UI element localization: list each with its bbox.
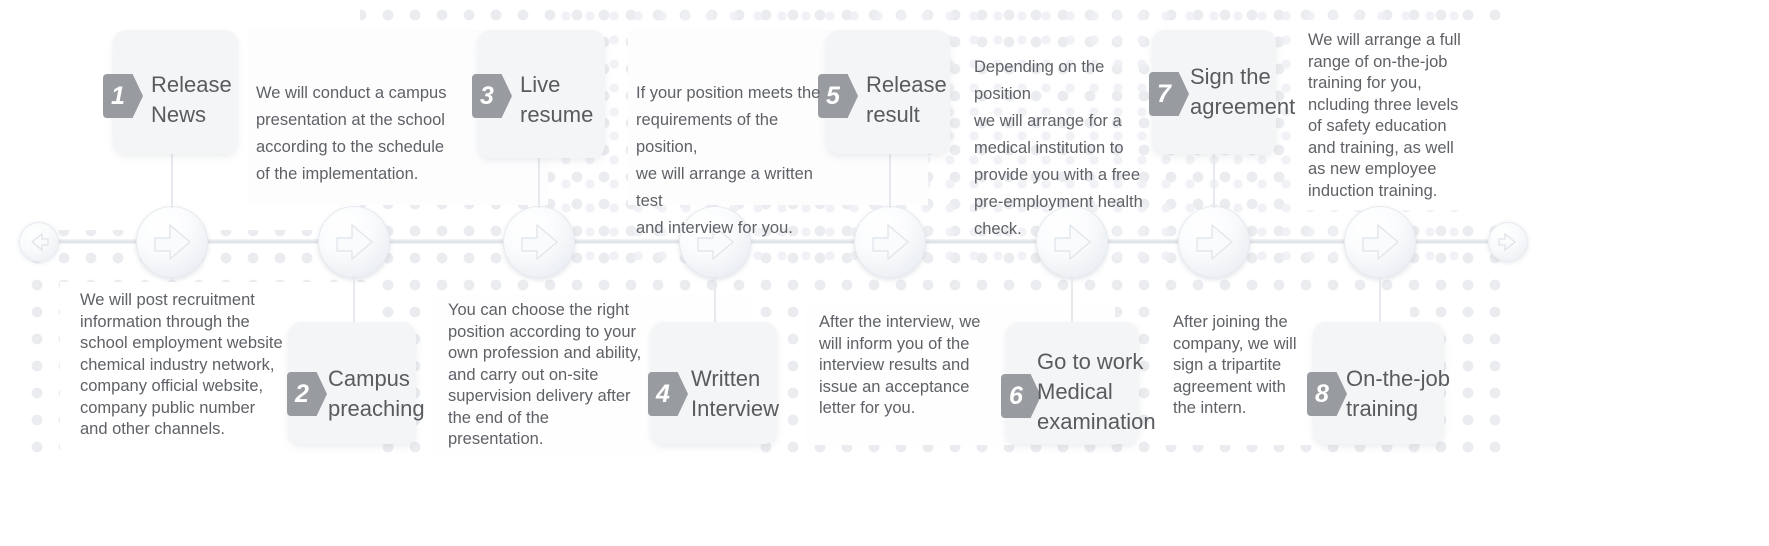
step-description-1: We will post recruitment information thr…: [80, 290, 295, 441]
timeline-start-cap: [19, 222, 59, 262]
step-label-2: Campus preaching: [328, 364, 438, 424]
step-description-7: After joining the company, we will sign …: [1173, 312, 1323, 420]
connector-stem-4: [714, 276, 716, 322]
connector-stem-8: [1379, 276, 1381, 322]
timeline-node-8[interactable]: [1344, 206, 1416, 278]
connector-stem-7: [1213, 152, 1215, 208]
connector-stem-1: [171, 152, 173, 208]
step-label-6: Go to work Medical examination: [1037, 347, 1157, 437]
step-label-8: On-the-job training: [1346, 364, 1456, 424]
timeline-diagram: 1 Release News 2 Campus preaching 3 Live…: [0, 0, 1769, 546]
arrow-left-icon: [28, 231, 50, 253]
arrow-right-icon: [1497, 231, 1519, 253]
timeline-node-2[interactable]: [318, 206, 390, 278]
step-description-4: If your position meets the requirements …: [636, 80, 841, 242]
step-label-1: Release News: [151, 70, 246, 130]
timeline-node-3[interactable]: [503, 206, 575, 278]
connector-stem-6: [1071, 276, 1073, 324]
arrow-right-node-icon: [1191, 221, 1237, 263]
connector-stem-3: [538, 158, 540, 208]
step-description-8: We will arrange a full range of on-the-j…: [1308, 30, 1468, 202]
step-description-5: After the interview, we will inform you …: [819, 312, 994, 420]
connector-stem-2: [353, 276, 355, 324]
step-description-2: We will conduct a campus presentation at…: [256, 80, 456, 188]
step-label-3: Live resume: [520, 70, 620, 130]
timeline-node-5[interactable]: [854, 206, 926, 278]
arrow-right-node-icon: [516, 221, 562, 263]
timeline-node-1[interactable]: [136, 206, 208, 278]
step-description-6: Depending on the position we will arrang…: [974, 54, 1154, 243]
arrow-right-node-icon: [867, 221, 913, 263]
connector-stem-5: [889, 152, 891, 208]
step-label-4: Written Interview: [691, 364, 791, 424]
step-description-3: You can choose the right position accord…: [448, 300, 648, 451]
arrow-right-node-icon: [149, 221, 195, 263]
timeline-end-cap: [1488, 222, 1528, 262]
step-label-7: Sign the agreement: [1190, 62, 1290, 122]
arrow-right-node-icon: [331, 221, 377, 263]
timeline-node-7[interactable]: [1178, 206, 1250, 278]
step-label-5: Release result: [866, 70, 961, 130]
arrow-right-node-icon: [1357, 221, 1403, 263]
